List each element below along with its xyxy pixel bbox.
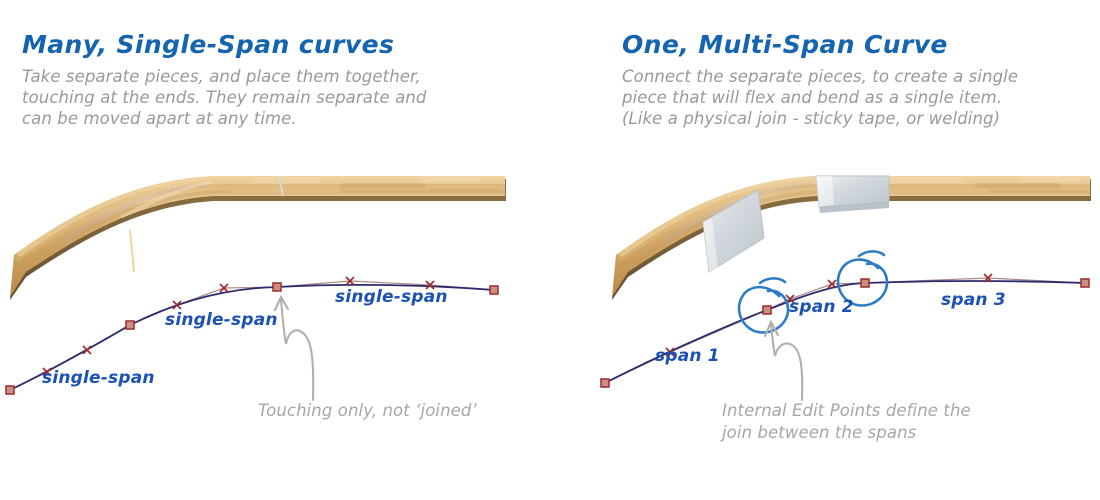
- span-label-single-span-3: single-span: [335, 287, 448, 307]
- diagram-stage: Many, Single-Span curves Take separate p…: [0, 0, 1100, 500]
- panel-heading-single-span: Many, Single-Span curves: [22, 30, 394, 59]
- span-label-single-span-1: single-span: [42, 368, 155, 388]
- span-label-span-2: span 2: [789, 297, 854, 317]
- panel-subtitle-single-span: Take separate pieces, and place them tog…: [22, 66, 426, 129]
- panel-heading-multi-span: One, Multi-Span Curve: [622, 30, 948, 59]
- caption-touching-only: Touching only, not ‘joined’: [258, 400, 477, 422]
- panel-subtitle-multi-span: Connect the separate pieces, to create a…: [622, 66, 1018, 129]
- span-label-single-span-2: single-span: [165, 310, 278, 330]
- caption-internal-edit-points: Internal Edit Points define the join bet…: [722, 400, 971, 444]
- span-label-span-1: span 1: [655, 346, 720, 366]
- panel-single-span: Many, Single-Span curves Take separate p…: [0, 0, 550, 500]
- span-label-span-3: span 3: [941, 290, 1006, 310]
